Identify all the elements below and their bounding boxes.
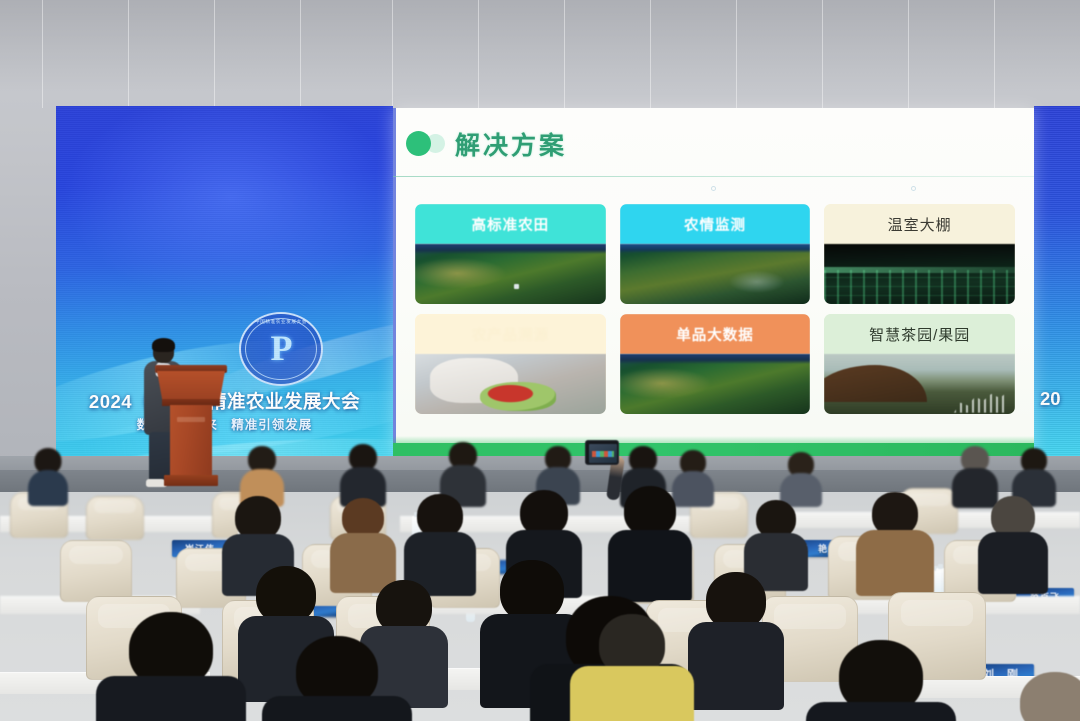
solution-card[interactable]: 农产品溯源 xyxy=(415,314,606,414)
person-torso xyxy=(28,470,68,506)
foreground-attendee xyxy=(96,612,246,721)
person-torso xyxy=(570,666,694,721)
card-label: 单品大数据 xyxy=(676,324,754,345)
wall-seam xyxy=(564,0,565,108)
wall-seam xyxy=(908,0,909,108)
foreground-attendee xyxy=(262,636,412,721)
card-image-farm-monitoring xyxy=(620,244,811,304)
solution-card[interactable]: 高标准农田 xyxy=(415,204,606,304)
slide-title: 解决方案 xyxy=(455,126,567,162)
secondary-banner-text: 20 xyxy=(1040,388,1061,410)
audience-member xyxy=(780,452,822,506)
audience-member xyxy=(978,496,1048,592)
card-header: 高标准农田 xyxy=(415,204,606,244)
secondary-banner-screen: 20 xyxy=(1034,106,1080,456)
wooden-podium xyxy=(155,365,227,486)
audience-member xyxy=(688,572,784,704)
card-label: 智慧茶园/果园 xyxy=(869,324,970,345)
person-torso xyxy=(262,696,412,721)
wall-seam xyxy=(478,0,479,108)
wall-seam xyxy=(736,0,737,108)
slide-bottom-bar-fade xyxy=(393,436,1034,443)
person-torso xyxy=(96,676,246,721)
person-torso xyxy=(608,530,692,602)
slide-header: 解决方案 xyxy=(393,118,1034,168)
wall-seam xyxy=(822,0,823,108)
card-image-greenhouse xyxy=(824,244,1015,304)
wall-seam xyxy=(214,0,215,108)
emblem-outer-ring xyxy=(239,312,323,386)
audience-chair xyxy=(60,540,132,602)
solution-card[interactable]: 农情监测 xyxy=(620,204,811,304)
solution-card[interactable]: 智慧茶园/果园 xyxy=(824,314,1015,414)
audience-member xyxy=(404,494,476,592)
smartphone-icon xyxy=(585,440,619,465)
audience-member xyxy=(608,486,692,598)
card-image-aerial-farmland xyxy=(415,244,606,304)
card-label: 温室大棚 xyxy=(888,214,952,235)
foreground-attendee xyxy=(1000,672,1080,721)
audience-member xyxy=(340,444,386,504)
podium-column xyxy=(170,405,212,477)
presentation-slide: 解决方案 高标准农田 农情监测 温室大棚 xyxy=(393,108,1034,456)
audience-member xyxy=(856,492,934,592)
wall-seam xyxy=(128,0,129,108)
card-label: 农产品溯源 xyxy=(472,324,550,345)
card-label: 农情监测 xyxy=(684,214,746,235)
podium-name-plate xyxy=(177,417,205,422)
solution-card[interactable]: 单品大数据 xyxy=(620,314,811,414)
slide-accent-dot xyxy=(406,131,431,156)
card-label: 高标准农田 xyxy=(472,214,550,235)
wall-seam xyxy=(650,0,651,108)
slide-tick-marker xyxy=(911,186,916,191)
card-header: 单品大数据 xyxy=(620,314,811,354)
presenter-hair xyxy=(152,338,175,352)
audience-member xyxy=(28,448,68,504)
slide-header-rule xyxy=(393,176,1034,177)
podium-desk xyxy=(157,371,225,401)
card-header: 温室大棚 xyxy=(824,204,1015,244)
person-torso xyxy=(806,702,956,721)
person-torso xyxy=(856,530,934,596)
wall-seam xyxy=(300,0,301,108)
person-head xyxy=(342,498,384,538)
card-header: 智慧茶园/果园 xyxy=(824,314,1015,354)
solution-card-grid: 高标准农田 农情监测 温室大棚 农产品溯源 xyxy=(415,204,1015,414)
card-image-crop-bigdata xyxy=(620,354,811,414)
audience-chair xyxy=(86,496,144,540)
audience-member xyxy=(330,498,396,590)
person-head xyxy=(1020,672,1080,721)
phone-screen-content xyxy=(592,451,614,457)
emblem-inner-ring xyxy=(245,318,317,380)
person-torso xyxy=(688,622,784,710)
card-header: 农情监测 xyxy=(620,204,811,244)
foreground-attendee xyxy=(806,640,956,721)
wall-top-shadow xyxy=(0,0,1080,108)
card-image-tea-orchard xyxy=(824,354,1015,414)
conference-hall-scene: 中国精准农业发展大会 P 2024（首届）精准农业发展大会 数智赋能未来 精准引… xyxy=(0,0,1080,721)
emblem-letter: P xyxy=(271,327,292,369)
podium-base xyxy=(164,475,218,486)
foreground-attendee xyxy=(570,614,694,721)
card-header: 农产品溯源 xyxy=(415,314,606,354)
wall-seam xyxy=(42,0,43,108)
wall-seam xyxy=(392,0,393,108)
emblem-arc-text: 中国精准农业发展大会 xyxy=(250,319,312,335)
card-image-market-produce xyxy=(415,354,606,414)
person-head xyxy=(624,486,676,536)
slide-tick-marker xyxy=(711,186,716,191)
wall-seam xyxy=(994,0,995,108)
solution-card[interactable]: 温室大棚 xyxy=(824,204,1015,304)
person-torso xyxy=(978,532,1048,594)
conference-emblem-logo: 中国精准农业发展大会 P xyxy=(239,312,323,386)
